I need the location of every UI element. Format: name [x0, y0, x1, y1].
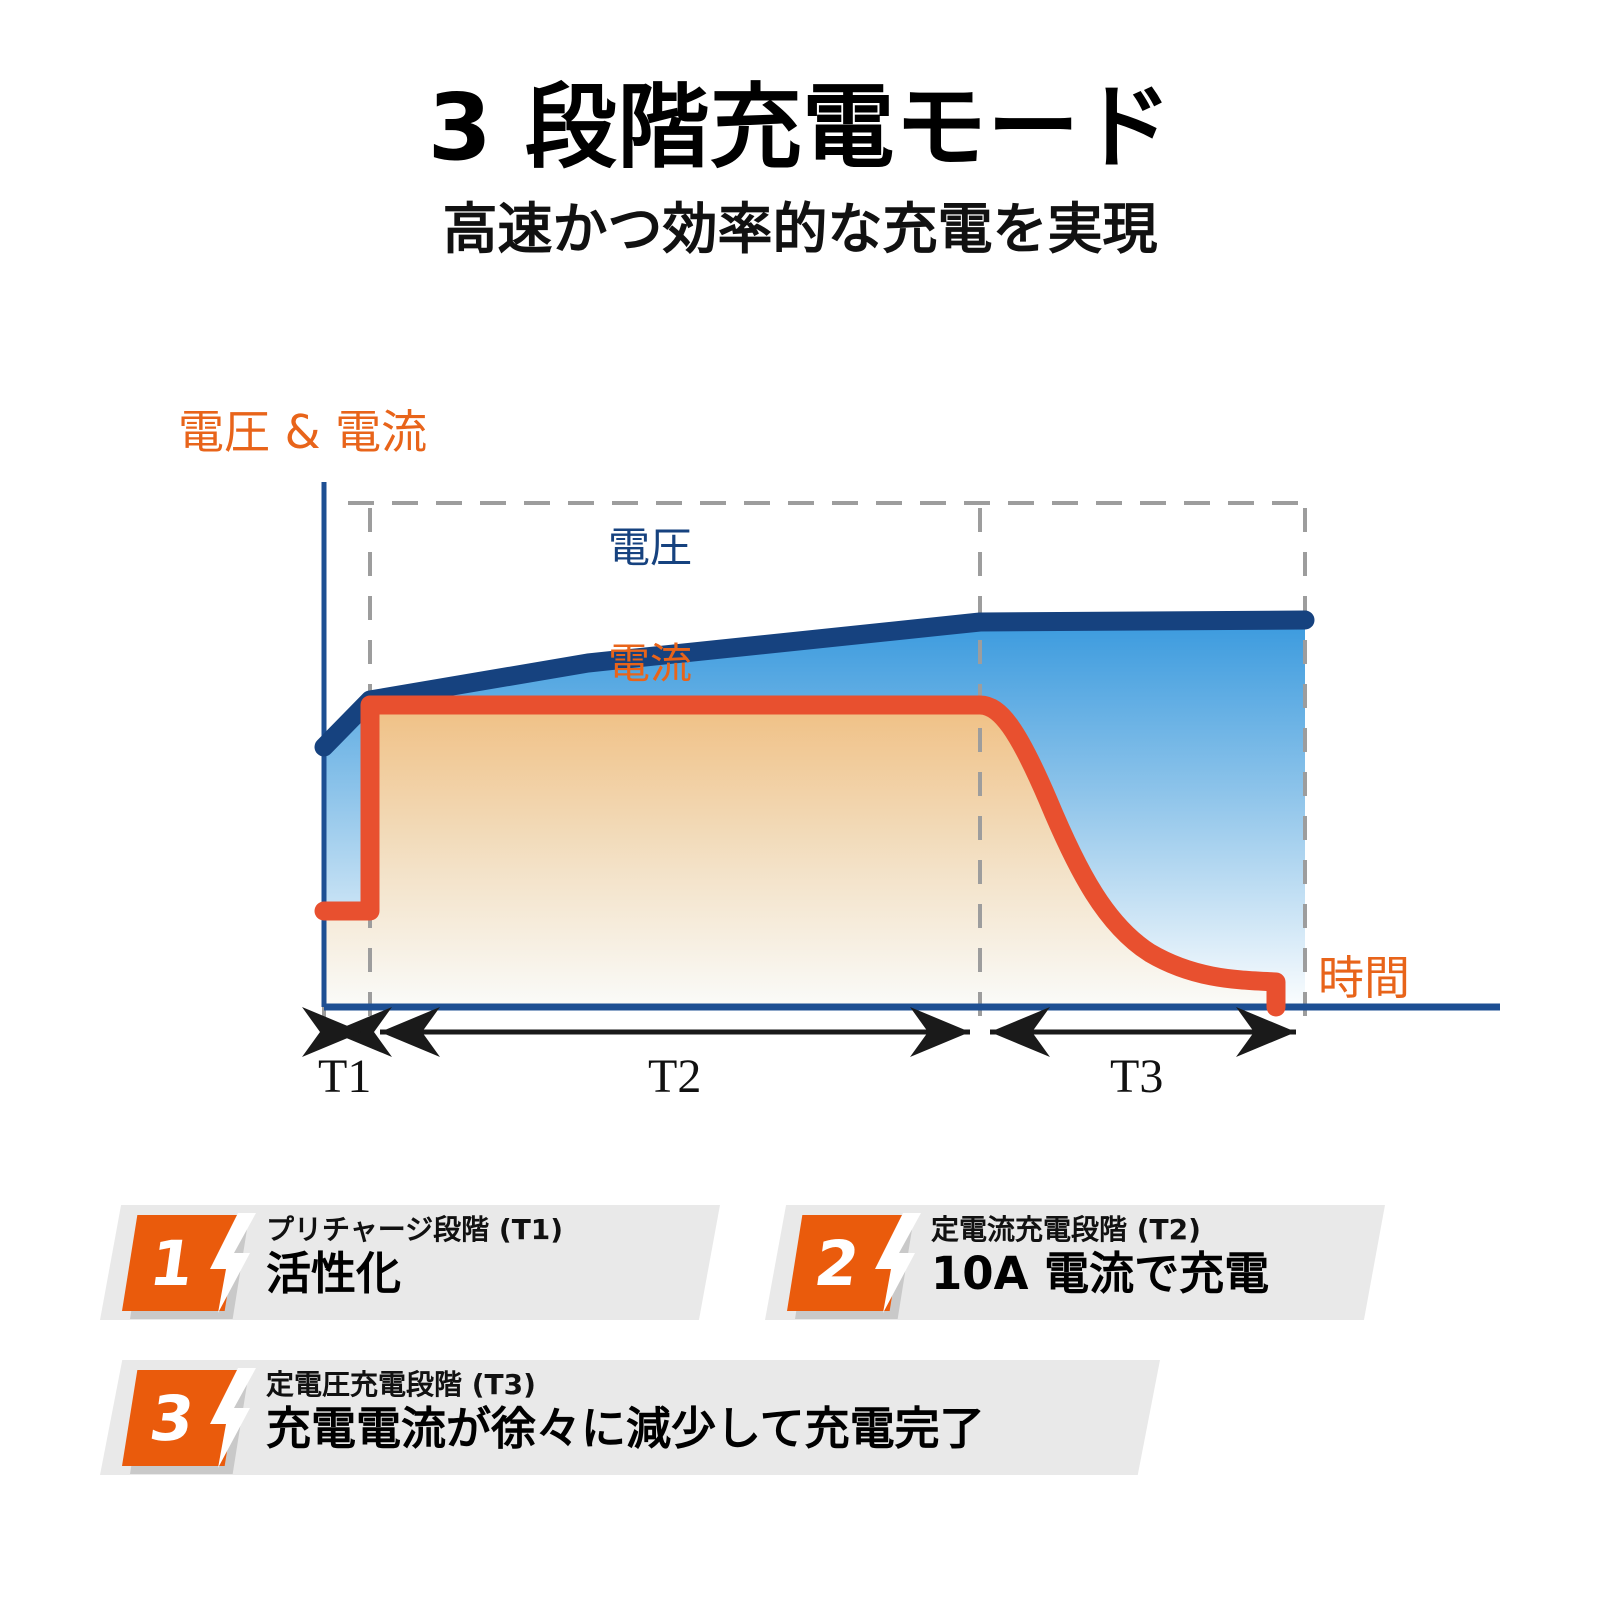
step-card-2-main: 10A 電流で充電	[931, 1246, 1269, 1299]
chart-svg: 電圧 & 電流 時間 電圧 電流 T1 T2 T3	[0, 380, 1600, 1100]
step-card-2-badge: 2	[787, 1215, 905, 1311]
step-card-1-text: プリチャージ段階 (T1) 活性化	[266, 1213, 563, 1299]
phase-label-t3: T3	[1110, 1050, 1163, 1100]
lightning-bolt-icon	[869, 1213, 921, 1313]
page-title: 3 段階充電モード	[0, 0, 1600, 177]
voltage-series-label: 電圧	[608, 523, 692, 572]
step-card-3-text: 定電圧充電段階 (T3) 充電電流が徐々に減少して充電完了	[266, 1368, 985, 1454]
step-card-list: 1 プリチャージ段階 (T1) 活性化 2 定電流充電段階 (T2) 10A 電…	[0, 1175, 1600, 1505]
lightning-bolt-icon	[204, 1213, 256, 1313]
step-card-2[interactable]: 2 定電流充電段階 (T2) 10A 電流で充電	[765, 1205, 1385, 1320]
page-subtitle: 高速かつ効率的な充電を実現	[0, 177, 1600, 260]
step-card-3-kicker: 定電圧充電段階 (T3)	[266, 1368, 985, 1401]
step-card-3-badge: 3	[122, 1370, 240, 1466]
y-axis-label: 電圧 & 電流	[178, 405, 427, 459]
step-card-2-kicker: 定電流充電段階 (T2)	[931, 1213, 1269, 1246]
current-series-label: 電流	[608, 639, 692, 688]
phase-label-t2: T2	[648, 1050, 701, 1100]
step-card-1-badge: 1	[122, 1215, 240, 1311]
x-axis-label: 時間	[1318, 951, 1410, 1005]
lightning-bolt-icon	[204, 1368, 256, 1468]
step-card-1-main: 活性化	[266, 1246, 563, 1299]
step-card-3-main: 充電電流が徐々に減少して充電完了	[266, 1401, 985, 1454]
step-card-2-text: 定電流充電段階 (T2) 10A 電流で充電	[931, 1213, 1269, 1299]
page-header: 3 段階充電モード 高速かつ効率的な充電を実現	[0, 0, 1600, 260]
charging-stage-chart: 電圧 & 電流 時間 電圧 電流 T1 T2 T3	[0, 380, 1600, 1100]
step-card-1[interactable]: 1 プリチャージ段階 (T1) 活性化	[100, 1205, 720, 1320]
phase-label-t1: T1	[318, 1050, 371, 1100]
step-card-3[interactable]: 3 定電圧充電段階 (T3) 充電電流が徐々に減少して充電完了	[100, 1360, 1160, 1475]
step-card-1-kicker: プリチャージ段階 (T1)	[266, 1213, 563, 1246]
